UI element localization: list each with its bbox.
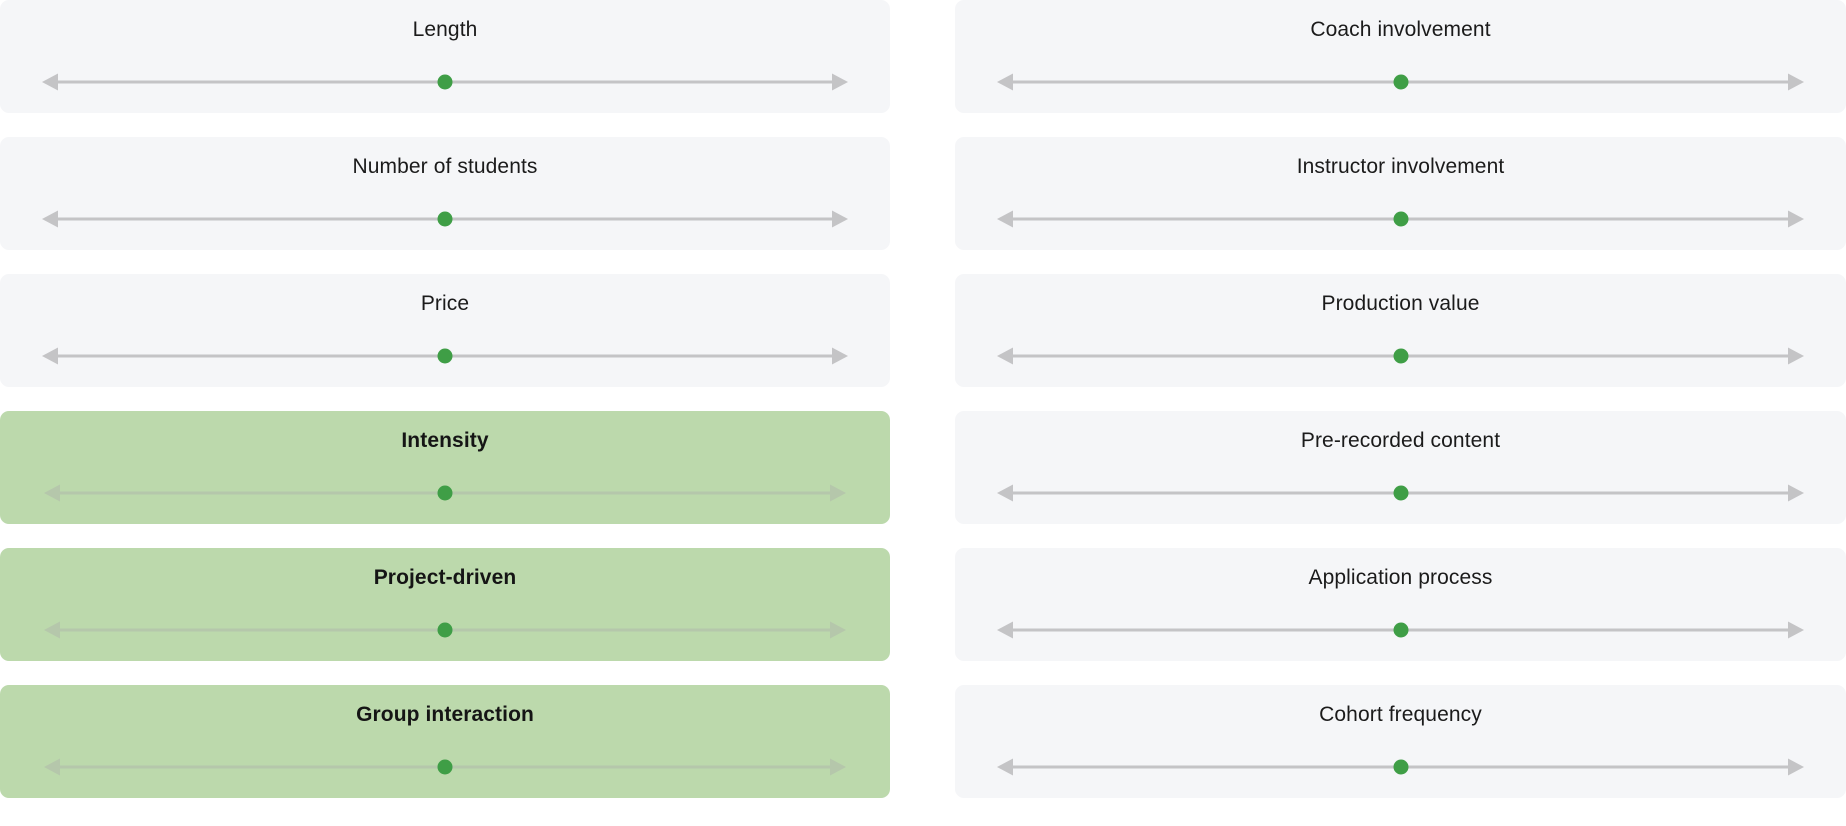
slider-card[interactable]: Production value bbox=[955, 274, 1846, 387]
slider-card[interactable]: Cohort frequency bbox=[955, 685, 1846, 798]
slider-control[interactable] bbox=[997, 481, 1804, 505]
arrow-left-icon[interactable] bbox=[997, 485, 1013, 502]
slider-label: Cohort frequency bbox=[955, 701, 1846, 729]
slider-control[interactable] bbox=[997, 207, 1804, 231]
arrow-right-icon[interactable] bbox=[832, 348, 848, 365]
slider-label: Group interaction bbox=[0, 701, 890, 729]
left-column: LengthNumber of studentsPriceIntensityPr… bbox=[0, 0, 890, 822]
arrow-left-icon[interactable] bbox=[42, 211, 58, 228]
arrow-right-icon[interactable] bbox=[1788, 485, 1804, 502]
arrow-left-icon[interactable] bbox=[997, 211, 1013, 228]
slider-handle-icon[interactable] bbox=[438, 212, 453, 227]
slider-board: LengthNumber of studentsPriceIntensityPr… bbox=[0, 0, 1846, 826]
slider-label: Production value bbox=[955, 290, 1846, 318]
slider-label: Instructor involvement bbox=[955, 153, 1846, 181]
slider-control[interactable] bbox=[997, 618, 1804, 642]
arrow-left-icon[interactable] bbox=[997, 759, 1013, 776]
slider-handle-icon[interactable] bbox=[438, 349, 453, 364]
slider-card[interactable]: Length bbox=[0, 0, 890, 113]
arrow-left-icon[interactable] bbox=[997, 348, 1013, 365]
slider-handle-icon[interactable] bbox=[1393, 349, 1408, 364]
arrow-right-icon[interactable] bbox=[1788, 74, 1804, 91]
slider-card[interactable]: Price bbox=[0, 274, 890, 387]
slider-label: Pre-recorded content bbox=[955, 427, 1846, 455]
slider-handle-icon[interactable] bbox=[438, 486, 453, 501]
arrow-left-icon[interactable] bbox=[44, 485, 60, 502]
slider-handle-icon[interactable] bbox=[1393, 75, 1408, 90]
slider-label: Intensity bbox=[0, 427, 890, 455]
slider-control[interactable] bbox=[44, 618, 846, 642]
slider-label: Coach involvement bbox=[955, 16, 1846, 44]
slider-handle-icon[interactable] bbox=[1393, 623, 1408, 638]
slider-handle-icon[interactable] bbox=[1393, 212, 1408, 227]
slider-label: Application process bbox=[955, 564, 1846, 592]
slider-label: Length bbox=[0, 16, 890, 44]
slider-control[interactable] bbox=[997, 70, 1804, 94]
slider-label: Project-driven bbox=[0, 564, 890, 592]
slider-card[interactable]: Pre-recorded content bbox=[955, 411, 1846, 524]
arrow-right-icon[interactable] bbox=[1788, 348, 1804, 365]
right-column: Coach involvementInstructor involvementP… bbox=[955, 0, 1846, 822]
slider-control[interactable] bbox=[997, 344, 1804, 368]
slider-control[interactable] bbox=[42, 70, 848, 94]
slider-card[interactable]: Number of students bbox=[0, 137, 890, 250]
slider-handle-icon[interactable] bbox=[1393, 760, 1408, 775]
slider-handle-icon[interactable] bbox=[438, 75, 453, 90]
slider-card[interactable]: Coach involvement bbox=[955, 0, 1846, 113]
slider-card[interactable]: Instructor involvement bbox=[955, 137, 1846, 250]
slider-card[interactable]: Project-driven bbox=[0, 548, 890, 661]
arrow-right-icon[interactable] bbox=[832, 211, 848, 228]
arrow-left-icon[interactable] bbox=[44, 622, 60, 639]
slider-handle-icon[interactable] bbox=[1393, 486, 1408, 501]
slider-control[interactable] bbox=[42, 344, 848, 368]
arrow-right-icon[interactable] bbox=[830, 759, 846, 776]
arrow-right-icon[interactable] bbox=[830, 485, 846, 502]
slider-card[interactable]: Group interaction bbox=[0, 685, 890, 798]
slider-label: Number of students bbox=[0, 153, 890, 181]
arrow-right-icon[interactable] bbox=[1788, 622, 1804, 639]
arrow-left-icon[interactable] bbox=[42, 348, 58, 365]
slider-card[interactable]: Intensity bbox=[0, 411, 890, 524]
slider-control[interactable] bbox=[44, 755, 846, 779]
arrow-right-icon[interactable] bbox=[1788, 759, 1804, 776]
slider-control[interactable] bbox=[42, 207, 848, 231]
slider-control[interactable] bbox=[44, 481, 846, 505]
slider-handle-icon[interactable] bbox=[438, 760, 453, 775]
arrow-left-icon[interactable] bbox=[42, 74, 58, 91]
arrow-left-icon[interactable] bbox=[997, 74, 1013, 91]
slider-card[interactable]: Application process bbox=[955, 548, 1846, 661]
arrow-right-icon[interactable] bbox=[1788, 211, 1804, 228]
arrow-left-icon[interactable] bbox=[44, 759, 60, 776]
slider-label: Price bbox=[0, 290, 890, 318]
arrow-left-icon[interactable] bbox=[997, 622, 1013, 639]
arrow-right-icon[interactable] bbox=[832, 74, 848, 91]
arrow-right-icon[interactable] bbox=[830, 622, 846, 639]
slider-handle-icon[interactable] bbox=[438, 623, 453, 638]
slider-control[interactable] bbox=[997, 755, 1804, 779]
